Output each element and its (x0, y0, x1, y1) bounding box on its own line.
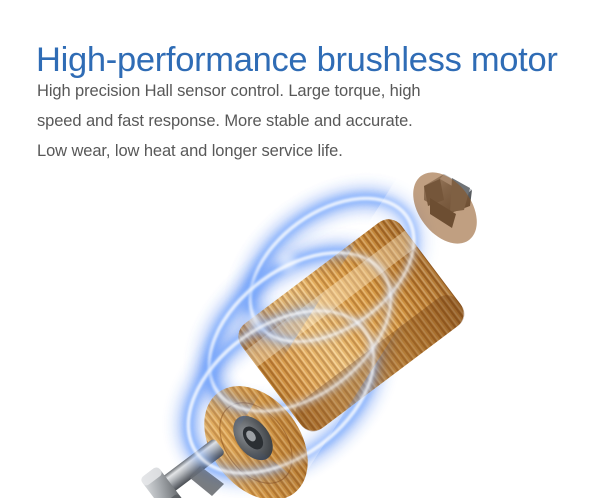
description-block: High precision Hall sensor control. Larg… (37, 76, 507, 166)
description-line: speed and fast response. More stable and… (37, 106, 507, 136)
page-title: High-performance brushless motor (36, 39, 584, 81)
product-feature-panel: High-performance brushless motor High pr… (0, 0, 600, 498)
motor-illustration (0, 170, 600, 498)
description-line: Low wear, low heat and longer service li… (37, 136, 507, 166)
description-line: High precision Hall sensor control. Larg… (37, 76, 507, 106)
